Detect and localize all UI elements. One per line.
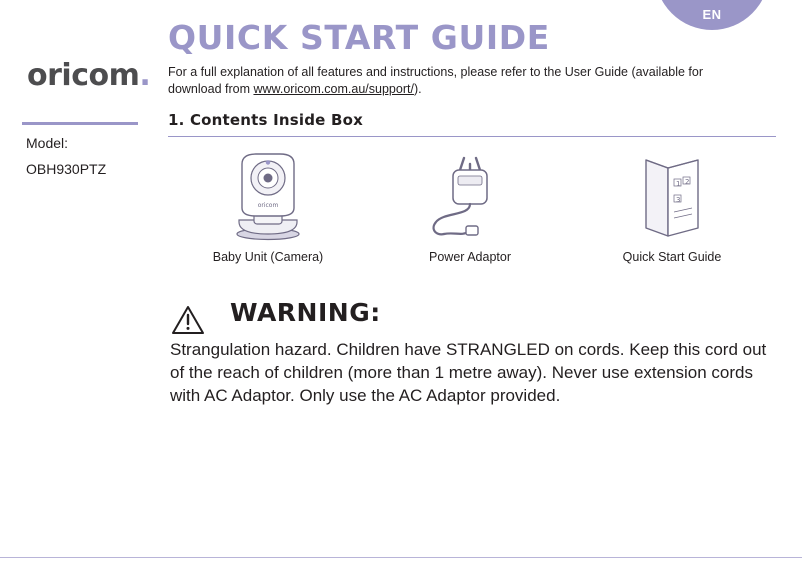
brand-logo: oricom. <box>27 58 150 93</box>
section-heading-contents: 1. Contents Inside Box <box>168 111 363 129</box>
footer-divider <box>0 557 802 558</box>
warning-body: Strangulation hazard. Children have STRA… <box>170 338 770 407</box>
intro-text-before: For a full explanation of all features a… <box>168 65 703 96</box>
model-value: OBH930PTZ <box>26 161 106 177</box>
warning-block: WARNING: Strangulation hazard. Children … <box>168 150 788 270</box>
sidebar: oricom. Model: OBH930PTZ <box>0 0 168 569</box>
main-content: QUICK START GUIDE For a full explanation… <box>168 0 802 569</box>
brand-logo-text: oricom <box>27 58 139 93</box>
support-link[interactable]: www.oricom.com.au/support/ <box>253 82 413 96</box>
brand-logo-dot: . <box>139 58 150 93</box>
warning-triangle-icon <box>171 305 205 335</box>
section-divider <box>168 136 776 137</box>
model-label: Model: <box>26 135 68 151</box>
intro-paragraph: For a full explanation of all features a… <box>168 64 744 98</box>
brand-divider <box>22 122 138 125</box>
warning-title: WARNING: <box>230 298 381 327</box>
intro-text-after: ). <box>414 82 422 96</box>
page-title: QUICK START GUIDE <box>168 18 550 57</box>
